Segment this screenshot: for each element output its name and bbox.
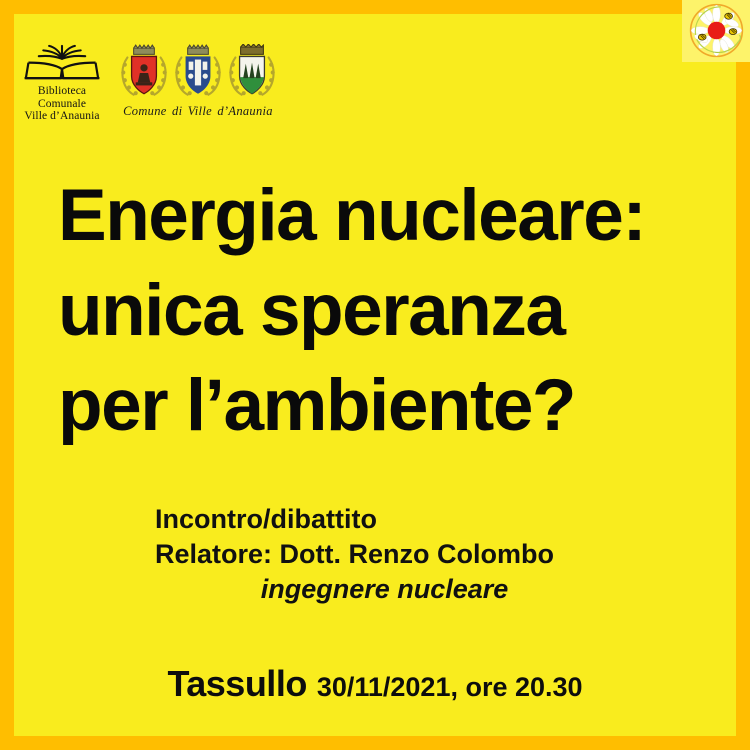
crest-group xyxy=(114,44,282,102)
bee-icon xyxy=(698,34,706,40)
svg-text:·····: ····· xyxy=(713,51,719,55)
library-logo: Biblioteca Comunale Ville d’Anaunia xyxy=(18,42,106,123)
badge-backdrop: ····· xyxy=(682,0,750,62)
event-poster: ····· xyxy=(0,0,750,750)
event-location: Tassullo xyxy=(167,663,306,704)
open-book-icon xyxy=(23,42,101,82)
municipality-caption: Comune di Ville d’Anaunia xyxy=(114,104,282,119)
title-line-2: unica speranza xyxy=(58,263,708,358)
municipality-logo: Comune di Ville d’Anaunia xyxy=(114,42,282,119)
event-footer: Tassullo30/11/2021, ore 20.30 xyxy=(0,663,750,705)
bee-icon xyxy=(725,13,733,19)
speaker-role: ingegnere nucleare xyxy=(155,572,554,607)
event-datetime: 30/11/2021, ore 20.30 xyxy=(317,672,583,702)
title-line-1: Energia nucleare: xyxy=(58,168,708,263)
crest-tassullo-icon xyxy=(118,44,170,102)
logo-strip: Biblioteca Comunale Ville d’Anaunia xyxy=(18,42,282,123)
daisy-bee-circular-badge: ····· xyxy=(689,3,744,58)
library-logo-text: Biblioteca Comunale Ville d’Anaunia xyxy=(18,85,106,123)
event-type: Incontro/dibattito xyxy=(155,502,554,537)
crest-tuenno-icon xyxy=(226,44,278,102)
event-details: Incontro/dibattito Relatore: Dott. Renzo… xyxy=(155,502,554,607)
crest-nanno-icon xyxy=(172,44,224,102)
bee-icon xyxy=(729,29,737,35)
speaker-name: Relatore: Dott. Renzo Colombo xyxy=(155,537,554,572)
page-title: Energia nucleare: unica speranza per l’a… xyxy=(58,168,708,453)
title-line-3: per l’ambiente? xyxy=(58,358,708,453)
